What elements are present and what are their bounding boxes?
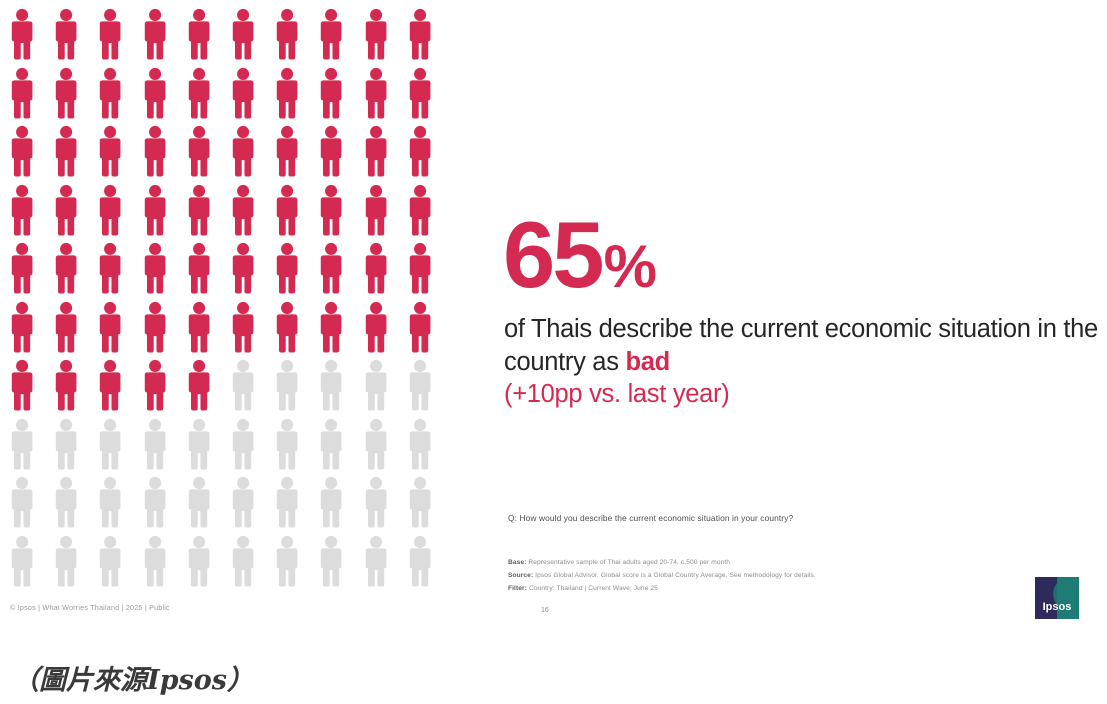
person-icon-empty bbox=[88, 533, 132, 592]
footnote-base: Base: Representative sample of Thai adul… bbox=[508, 557, 816, 570]
person-icon-filled bbox=[354, 65, 398, 124]
person-icon-empty bbox=[309, 533, 353, 592]
person-icon-empty bbox=[354, 357, 398, 416]
person-icon-filled bbox=[177, 357, 221, 416]
person-icon-empty bbox=[398, 416, 442, 475]
person-icon-empty bbox=[133, 533, 177, 592]
person-icon-filled bbox=[177, 6, 221, 65]
person-icon-empty bbox=[221, 416, 265, 475]
content-column: 65% of Thais describe the current econom… bbox=[503, 0, 1107, 631]
person-icon-filled bbox=[88, 240, 132, 299]
person-icon-filled bbox=[265, 240, 309, 299]
footnote-base-label: Base: bbox=[508, 559, 526, 566]
person-icon-filled bbox=[44, 240, 88, 299]
person-icon-filled bbox=[309, 299, 353, 358]
person-icon-filled bbox=[398, 123, 442, 182]
person-icon-filled bbox=[221, 65, 265, 124]
person-icon-filled bbox=[88, 299, 132, 358]
person-icon-filled bbox=[133, 182, 177, 241]
person-icon-empty bbox=[265, 357, 309, 416]
person-icon-filled bbox=[44, 299, 88, 358]
person-icon-empty bbox=[309, 416, 353, 475]
person-icon-filled bbox=[221, 123, 265, 182]
person-icon-filled bbox=[398, 182, 442, 241]
footnote-source-label: Source: bbox=[508, 572, 533, 579]
person-icon-filled bbox=[354, 123, 398, 182]
person-icon-filled bbox=[177, 240, 221, 299]
pictogram-grid bbox=[0, 6, 442, 591]
person-icon-filled bbox=[221, 299, 265, 358]
person-icon-filled bbox=[221, 182, 265, 241]
footnote-base-text: Representative sample of Thai adults age… bbox=[526, 559, 730, 566]
person-icon-filled bbox=[309, 182, 353, 241]
person-icon-filled bbox=[177, 299, 221, 358]
person-icon-filled bbox=[265, 299, 309, 358]
person-icon-empty bbox=[398, 357, 442, 416]
person-icon-empty bbox=[398, 474, 442, 533]
person-icon-empty bbox=[265, 533, 309, 592]
svg-text:Ipsos: Ipsos bbox=[1043, 601, 1072, 613]
person-icon-filled bbox=[88, 357, 132, 416]
person-icon-empty bbox=[0, 474, 44, 533]
person-icon-filled bbox=[44, 357, 88, 416]
person-icon-filled bbox=[309, 65, 353, 124]
person-icon-empty bbox=[354, 533, 398, 592]
person-icon-filled bbox=[0, 123, 44, 182]
person-icon-empty bbox=[265, 474, 309, 533]
person-icon-filled bbox=[221, 6, 265, 65]
person-icon-filled bbox=[354, 182, 398, 241]
person-icon-filled bbox=[177, 182, 221, 241]
person-icon-empty bbox=[398, 533, 442, 592]
person-icon-filled bbox=[88, 182, 132, 241]
person-icon-filled bbox=[265, 182, 309, 241]
person-icon-empty bbox=[133, 474, 177, 533]
person-icon-filled bbox=[309, 123, 353, 182]
person-icon-filled bbox=[133, 357, 177, 416]
survey-question: Q: How would you describe the current ec… bbox=[508, 513, 793, 523]
person-icon-empty bbox=[0, 533, 44, 592]
person-icon-filled bbox=[0, 182, 44, 241]
footnote-block: Base: Representative sample of Thai adul… bbox=[508, 557, 816, 596]
person-icon-filled bbox=[88, 123, 132, 182]
person-icon-empty bbox=[44, 416, 88, 475]
headline-text: of Thais describe the current economic s… bbox=[504, 313, 1104, 411]
ipsos-slide: © Ipsos | What Worries Thailand | 2025 |… bbox=[0, 0, 1107, 631]
percent-symbol: % bbox=[604, 233, 655, 300]
person-icon-empty bbox=[309, 357, 353, 416]
person-icon-filled bbox=[398, 6, 442, 65]
screenshot-root: © Ipsos | What Worries Thailand | 2025 |… bbox=[0, 0, 1107, 704]
person-icon-filled bbox=[0, 357, 44, 416]
person-icon-empty bbox=[0, 416, 44, 475]
headline-delta: (+10pp vs. last year) bbox=[504, 380, 729, 408]
person-icon-empty bbox=[354, 416, 398, 475]
page-number: 16 bbox=[541, 607, 549, 614]
person-icon-filled bbox=[398, 65, 442, 124]
person-icon-filled bbox=[309, 240, 353, 299]
person-icon-empty bbox=[44, 474, 88, 533]
person-icon-filled bbox=[177, 65, 221, 124]
person-icon-empty bbox=[265, 416, 309, 475]
person-icon-filled bbox=[44, 182, 88, 241]
person-icon-empty bbox=[221, 357, 265, 416]
person-icon-filled bbox=[44, 123, 88, 182]
person-icon-empty bbox=[88, 416, 132, 475]
person-icon-filled bbox=[0, 240, 44, 299]
person-icon-filled bbox=[88, 65, 132, 124]
person-icon-empty bbox=[177, 416, 221, 475]
image-source-caption: （圖片來源Ipsos） bbox=[12, 658, 254, 697]
person-icon-empty bbox=[354, 474, 398, 533]
person-icon-empty bbox=[44, 533, 88, 592]
person-icon-filled bbox=[398, 240, 442, 299]
person-icon-empty bbox=[177, 474, 221, 533]
person-icon-empty bbox=[221, 533, 265, 592]
ipsos-logo: Ipsos bbox=[1035, 577, 1079, 619]
headline-lead: of Thais describe the current economic s… bbox=[504, 315, 1098, 376]
slide-credit-line: © Ipsos | What Worries Thailand | 2025 |… bbox=[10, 603, 170, 612]
person-icon-filled bbox=[398, 299, 442, 358]
person-icon-filled bbox=[0, 65, 44, 124]
person-icon-filled bbox=[221, 240, 265, 299]
person-icon-empty bbox=[221, 474, 265, 533]
person-icon-empty bbox=[177, 533, 221, 592]
person-icon-filled bbox=[133, 6, 177, 65]
footnote-filter-label: Filter: bbox=[508, 585, 527, 592]
footnote-filter: Filter: Country: Thailand | Current Wave… bbox=[508, 583, 816, 596]
person-icon-filled bbox=[133, 65, 177, 124]
person-icon-filled bbox=[88, 6, 132, 65]
person-icon-filled bbox=[354, 6, 398, 65]
person-icon-filled bbox=[354, 299, 398, 358]
person-icon-filled bbox=[133, 123, 177, 182]
person-icon-filled bbox=[0, 6, 44, 65]
person-icon-empty bbox=[309, 474, 353, 533]
person-icon-filled bbox=[177, 123, 221, 182]
person-icon-filled bbox=[133, 299, 177, 358]
person-icon-filled bbox=[265, 6, 309, 65]
stat-value: 65 bbox=[503, 202, 602, 307]
person-icon-filled bbox=[265, 65, 309, 124]
headline-emphasis: bad bbox=[625, 348, 669, 376]
person-icon-filled bbox=[309, 6, 353, 65]
footnote-source: Source: Ipsos Global Advisor. Global sco… bbox=[508, 570, 816, 583]
headline-statistic: 65% bbox=[503, 208, 655, 302]
person-icon-filled bbox=[44, 65, 88, 124]
pictogram-panel bbox=[0, 6, 448, 606]
person-icon-filled bbox=[44, 6, 88, 65]
person-icon-empty bbox=[88, 474, 132, 533]
person-icon-empty bbox=[133, 416, 177, 475]
ipsos-logo-icon: Ipsos bbox=[1035, 577, 1079, 619]
person-icon-filled bbox=[265, 123, 309, 182]
footnote-source-text: Ipsos Global Advisor. Global score is a … bbox=[533, 572, 816, 579]
person-icon-filled bbox=[0, 299, 44, 358]
person-icon-filled bbox=[133, 240, 177, 299]
footnote-filter-text: Country: Thailand | Current Wave: June 2… bbox=[527, 585, 658, 592]
person-icon-filled bbox=[354, 240, 398, 299]
